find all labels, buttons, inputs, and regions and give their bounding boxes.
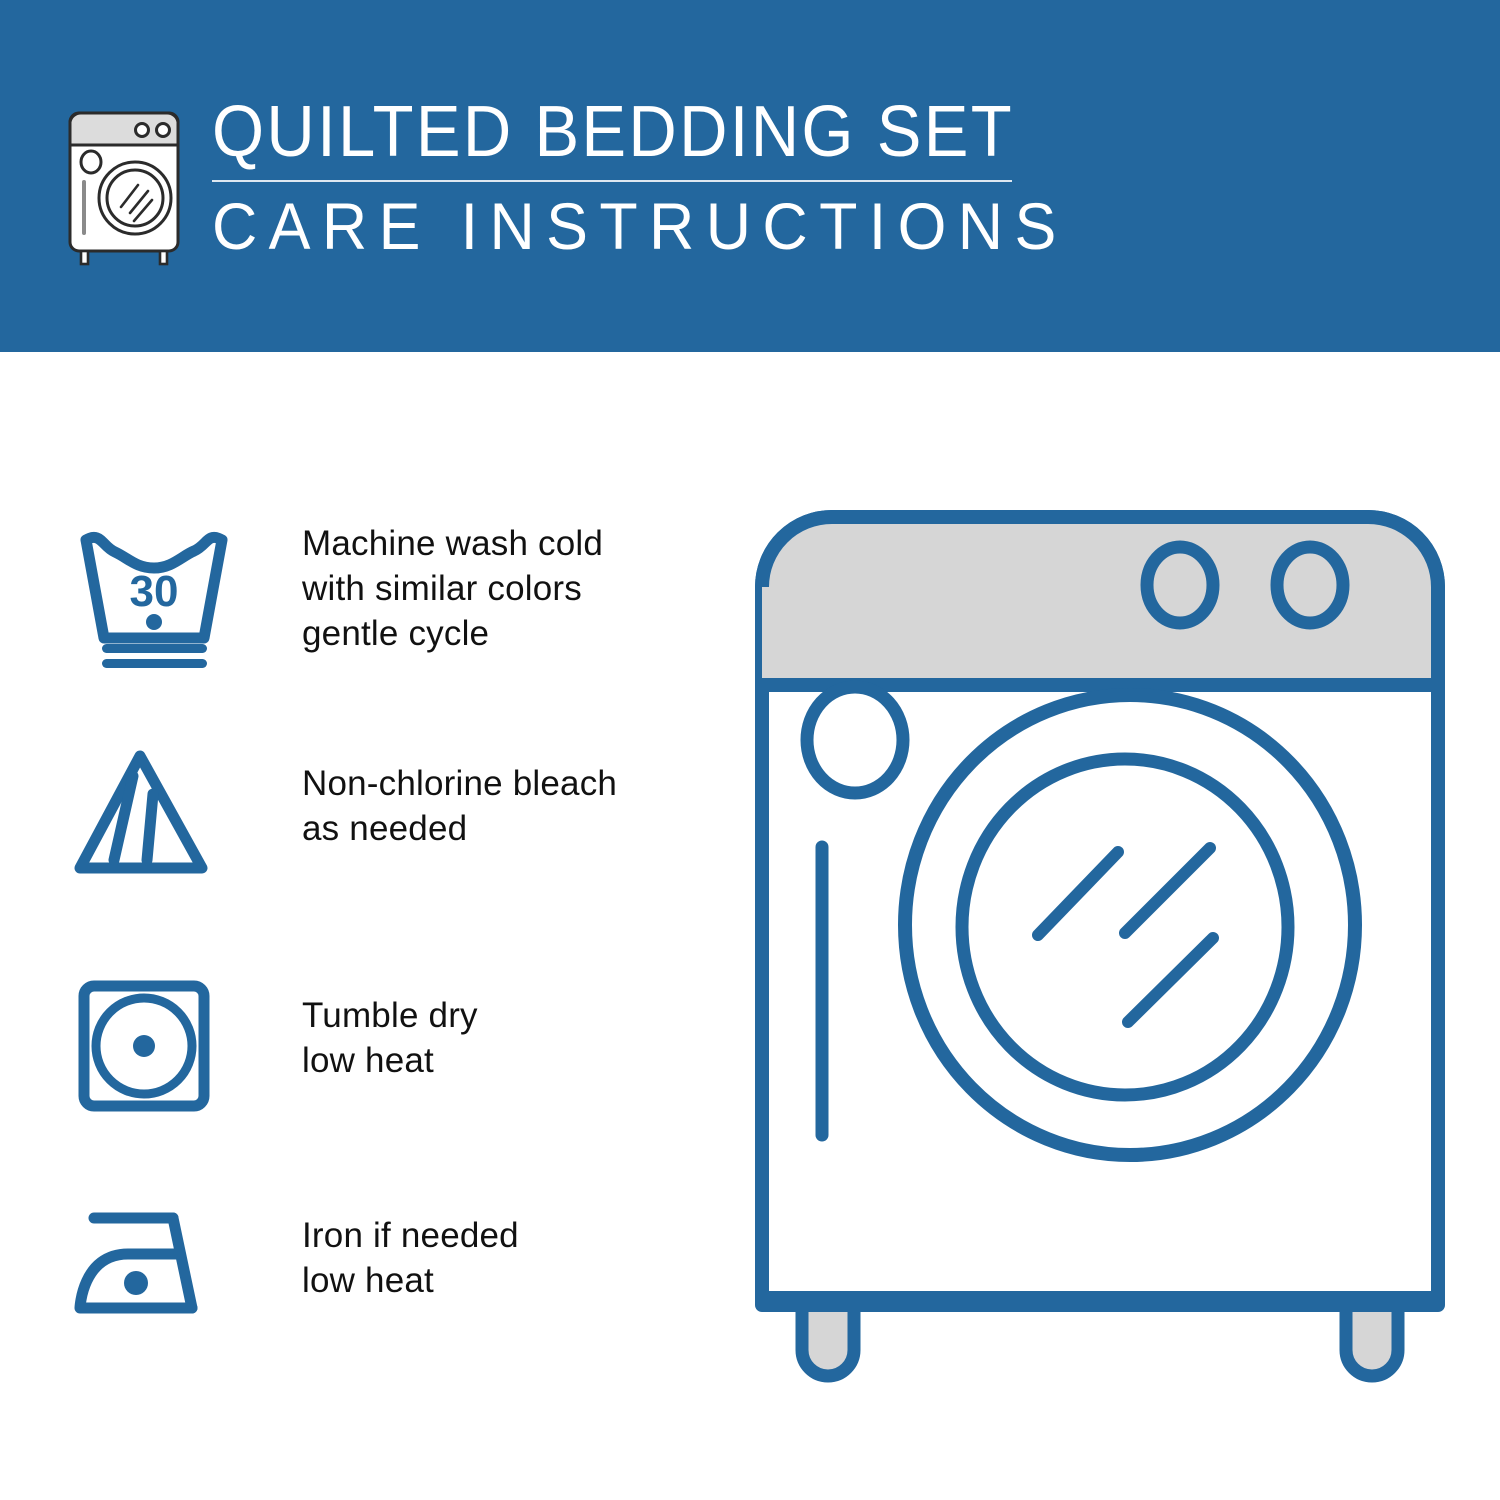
page-title: QUILTED BEDDING SET (212, 96, 975, 168)
title-divider (212, 180, 1012, 182)
control-knob-left (1147, 547, 1213, 623)
care-instructions-page: QUILTED BEDDING SET CARE INSTRUCTIONS 30 (0, 0, 1500, 1500)
header-text-block: QUILTED BEDDING SET CARE INSTRUCTIONS (212, 96, 1032, 261)
care-item-wash-label: Machine wash cold with similar colors ge… (302, 522, 603, 656)
control-knob-right (1277, 547, 1343, 623)
iron-icon (70, 1192, 240, 1342)
care-item-tumble-dry: Tumble dry low heat (70, 972, 478, 1122)
care-item-tumble-dry-label: Tumble dry low heat (302, 972, 478, 1084)
detergent-dial (807, 687, 903, 793)
page-subtitle: CARE INSTRUCTIONS (212, 192, 991, 261)
wash-tub-icon: 30 (70, 522, 240, 672)
bleach-triangle-icon (70, 740, 240, 890)
wash-temperature-label: 30 (130, 567, 179, 616)
care-item-bleach: Non-chlorine bleach as needed (70, 740, 617, 890)
washing-machine-illustration (740, 495, 1460, 1425)
care-item-wash: 30 Machine wash cold with similar colors… (70, 522, 603, 672)
header-banner: QUILTED BEDDING SET CARE INSTRUCTIONS (0, 0, 1500, 352)
care-instruction-list: 30 Machine wash cold with similar colors… (0, 352, 730, 1500)
washing-machine-icon (62, 103, 192, 268)
care-item-bleach-label: Non-chlorine bleach as needed (302, 740, 617, 852)
care-item-iron: Iron if needed low heat (70, 1192, 519, 1342)
care-item-iron-label: Iron if needed low heat (302, 1192, 519, 1304)
tumble-dry-icon (70, 972, 240, 1122)
